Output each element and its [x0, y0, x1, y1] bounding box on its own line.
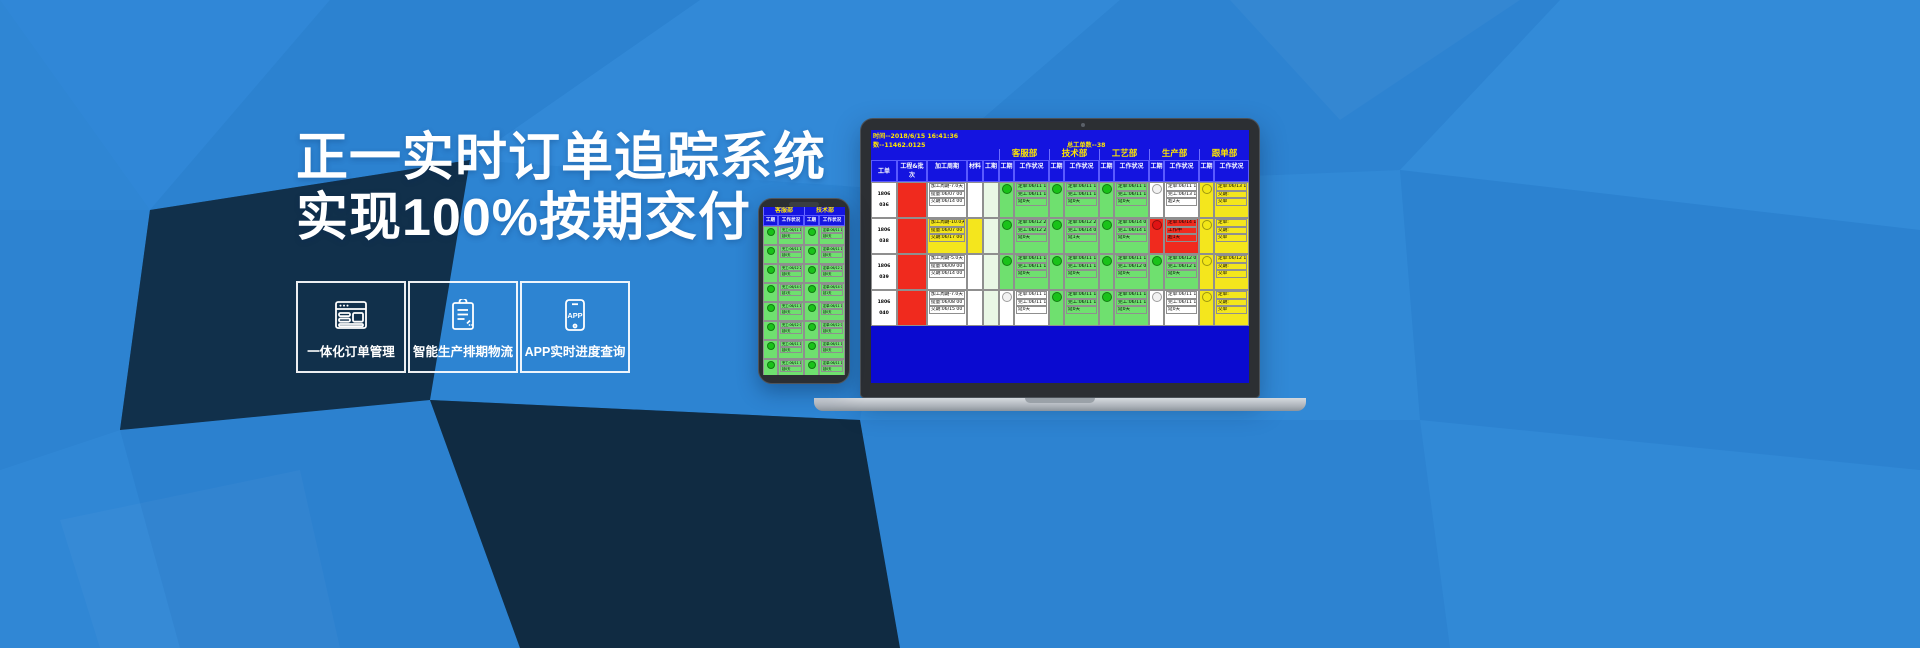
cell-project [897, 254, 927, 290]
cell-dept-duration [1199, 254, 1214, 290]
status-indicator-g [1152, 256, 1162, 266]
column-header-row: 工单 工程&批次 加工周期 材料 工期 工期 工作状况 工期 工作状况 工期 工… [871, 160, 1249, 182]
cell-material [967, 254, 983, 290]
dept-subheader-status: 工作状况 [1014, 160, 1049, 182]
status-indicator-g [767, 266, 775, 274]
cell-dept-duration [763, 321, 778, 340]
cell-dept-status: 定单:06/12 20延0天 [819, 264, 845, 283]
cell-dept-duration [1199, 182, 1214, 218]
cell-cycle: 加工周期-7.0天提量:06/07 00交期:06/14 00 [927, 182, 967, 218]
dept-subheader-duration: 工期 [763, 215, 778, 226]
cell-workorder: 1806038 [871, 218, 897, 254]
department-header: 技术部 [1049, 149, 1099, 160]
cell-dept-status: 定单:06/14 00完工:06/14 14延0天 [1114, 218, 1149, 254]
status-indicator-y [1202, 292, 1212, 302]
phone-notch [789, 202, 819, 207]
cell-dept-status: 完工:06/11 17延0天 [778, 245, 804, 264]
cell-dept-status: 定单:06/11 17完工:06/11 17延0天 [1014, 182, 1049, 218]
status-indicator-g [767, 228, 775, 236]
dept-subheader-status: 工作状况 [778, 215, 804, 226]
cell-dept-status: 完工:06/12 09延0天 [778, 321, 804, 340]
cell-dept-status: 定单:06/11 17完工:06/11 17延0天 [1064, 290, 1099, 326]
webcam-icon [1081, 123, 1085, 127]
department-header-strip: 客服部 技术部 工艺部 生产部 跟单部 [871, 149, 1249, 160]
cell-dept-status: 定单:06/12 20完工:06/14 00延1天 [1064, 218, 1099, 254]
column-header-duration: 工期 [983, 160, 999, 182]
cell-dept-status: 完工:06/14 00延1天 [778, 283, 804, 302]
cell-dept-duration [763, 359, 778, 375]
dashboard-time-row: 时间--2018/6/15 16:41:36 [873, 131, 1247, 140]
feature-label: 智能生产排期物流 [413, 341, 513, 360]
status-indicator-g [808, 266, 816, 274]
cell-cycle: 加工周期-10.0天提量:06/07 00交期:06/17 00 [927, 218, 967, 254]
clipboard-schedule-icon [448, 296, 478, 334]
phone-screen: 客服部 技术部 工期 工作状况 工期 工作状况 完工:06/11 17延0天定单… [763, 207, 845, 375]
laptop-screen: 时间--2018/6/15 16:41:36 数--11462.0125 总工单… [871, 130, 1249, 383]
cell-dept-duration [1149, 218, 1164, 254]
cell-dept-status: 定单:06/11 17完工:06/11 17延0天 [1014, 254, 1049, 290]
cell-dept-status: 定单:06/13 10交期:交单 [1214, 182, 1249, 218]
dept-subheader-status: 工作状况 [1114, 160, 1149, 182]
cell-dept-status: 定单:06/11 17完工:06/11 17延0天 [1114, 182, 1149, 218]
cell-dept-status: 定单:06/12 19交期:交单 [1214, 254, 1249, 290]
cell-dept-duration [804, 245, 819, 264]
status-indicator-g [1102, 292, 1112, 302]
status-indicator-r [1152, 220, 1162, 230]
status-indicator-w [1152, 292, 1162, 302]
status-indicator-g [1052, 292, 1062, 302]
column-header-material: 材料 [967, 160, 983, 182]
cell-dept-status: 定单:交期:交单 [1214, 218, 1249, 254]
dashboard-row-list: 1806036加工周期-7.0天提量:06/07 00交期:06/14 00定单… [871, 182, 1249, 326]
cell-dept-status: 定单:06/11 17完工:06/12 09延0天 [1114, 254, 1149, 290]
status-indicator-g [767, 285, 775, 293]
cell-dept-duration [804, 321, 819, 340]
cell-dept-duration [1199, 218, 1214, 254]
cell-cycle: 加工周期-5.0天提量:06/09 00交期:06/14 00 [927, 254, 967, 290]
cell-dept-status: 定单:06/14 14工作中超1天 [1164, 218, 1199, 254]
cell-workorder: 1806039 [871, 254, 897, 290]
cell-dept-duration [1199, 290, 1214, 326]
status-indicator-g [767, 304, 775, 312]
cell-dept-status: 定单:06/12 09延0天 [819, 321, 845, 340]
dashboard-count-row: 数--11462.0125 总工单数--38 [873, 140, 1247, 149]
mobile-app-icon: APP [562, 296, 588, 334]
laptop-base [814, 398, 1306, 411]
status-indicator-w [1152, 184, 1162, 194]
table-row[interactable]: 完工:06/11 17延0天定单:06/11 17延0天 [763, 226, 845, 245]
dept-subheader-status: 工作状况 [1164, 160, 1199, 182]
status-indicator-g [1102, 184, 1112, 194]
laptop-lid: 时间--2018/6/15 16:41:36 数--11462.0125 总工单… [860, 118, 1260, 398]
cell-dept-duration [999, 254, 1014, 290]
cell-dept-status: 定单:06/11 17完工:06/11 17延0天 [1064, 254, 1099, 290]
status-indicator-g [1052, 184, 1062, 194]
status-indicator-g [808, 247, 816, 255]
table-row[interactable]: 1806036加工周期-7.0天提量:06/07 00交期:06/14 00定单… [871, 182, 1249, 218]
cell-workorder: 1806036 [871, 182, 897, 218]
dept-subheader-duration: 工期 [1199, 160, 1214, 182]
status-indicator-g [1052, 256, 1062, 266]
cell-dept-status: 定单:06/11 17延0天 [819, 245, 845, 264]
table-row[interactable]: 完工:06/11 17延0天定单:06/11 17延0天 [763, 340, 845, 359]
cell-dept-status: 定单:06/11 17完工:06/11 17延0天 [1114, 290, 1149, 326]
order-tracking-dashboard: 时间--2018/6/15 16:41:36 数--11462.0125 总工单… [871, 130, 1249, 326]
cell-dept-status: 完工:06/12 20延0天 [778, 264, 804, 283]
cell-duration [983, 254, 999, 290]
table-row[interactable]: 完工:06/11 17延0天定单:06/11 17延0天 [763, 245, 845, 264]
cell-dept-duration [763, 283, 778, 302]
column-header-cycle: 加工周期 [927, 160, 967, 182]
feature-label: 一体化订单管理 [307, 341, 395, 360]
status-indicator-w [1002, 292, 1012, 302]
table-row[interactable]: 完工:06/11 17延0天定单:06/11 17延0天 [763, 359, 845, 375]
cell-dept-duration [1099, 218, 1114, 254]
cell-dept-status: 定单:06/11 17延0天 [819, 226, 845, 245]
cell-dept-duration [763, 264, 778, 283]
department-header: 生产部 [1149, 149, 1199, 160]
column-header-project: 工程&批次 [897, 160, 927, 182]
status-indicator-g [1102, 256, 1112, 266]
total-orders-label: 总工单数--38 [1067, 140, 1106, 149]
cell-dept-status: 完工:06/11 17延0天 [778, 226, 804, 245]
cell-dept-duration [804, 340, 819, 359]
cell-dept-duration [1049, 254, 1064, 290]
banner-stage: 正一实时订单追踪系统 实现100%按期交付 [0, 0, 1920, 648]
table-row[interactable]: 完工:06/12 20延0天定单:06/12 20延0天 [763, 264, 845, 283]
status-indicator-g [808, 361, 816, 369]
cell-dept-status: 定单:06/12 09完工:06/12 19延0天 [1164, 254, 1199, 290]
cell-workorder: 1806040 [871, 290, 897, 326]
cell-dept-duration [1049, 218, 1064, 254]
phone-mockup: 客服部 技术部 工期 工作状况 工期 工作状况 完工:06/11 17延0天定单… [758, 198, 850, 384]
cell-dept-duration [804, 359, 819, 375]
cell-dept-duration [763, 226, 778, 245]
feature-label: APP实时进度查询 [525, 341, 626, 360]
cell-project [897, 182, 927, 218]
status-indicator-g [1002, 220, 1012, 230]
cell-dept-status: 定单:06/12 20完工:06/12 20延0天 [1014, 218, 1049, 254]
phone-department-header-strip: 客服部 技术部 [763, 207, 845, 215]
cell-cycle: 加工周期-7.0天提量:06/08 00交期:06/15 00 [927, 290, 967, 326]
cell-dept-duration [763, 340, 778, 359]
dashboard-layout-icon [334, 296, 368, 334]
cell-dept-status: 定单:06/11 17完工:06/11 17延0天 [1164, 290, 1199, 326]
status-indicator-g [808, 285, 816, 293]
dept-subheader-duration: 工期 [804, 215, 819, 226]
cell-dept-duration [1099, 290, 1114, 326]
cell-project [897, 218, 927, 254]
status-indicator-g [808, 228, 816, 236]
dept-subheader-duration: 工期 [999, 160, 1014, 182]
cell-dept-duration [804, 264, 819, 283]
cell-dept-duration [999, 218, 1014, 254]
table-row[interactable]: 完工:06/12 09延0天定单:06/12 09延0天 [763, 321, 845, 340]
cell-dept-duration [1049, 182, 1064, 218]
table-row[interactable]: 1806038加工周期-10.0天提量:06/07 00交期:06/17 00定… [871, 218, 1249, 254]
cell-dept-status: 定单:06/14 00延1天 [819, 283, 845, 302]
column-header-workorder: 工单 [871, 160, 897, 182]
cell-dept-duration [1099, 182, 1114, 218]
cell-dept-duration [804, 283, 819, 302]
status-indicator-g [808, 342, 816, 350]
cell-duration [983, 182, 999, 218]
phone-dashboard-row-list: 完工:06/11 17延0天定单:06/11 17延0天完工:06/11 17延… [763, 226, 845, 375]
count-label: 数--11462.0125 [873, 140, 925, 149]
cell-duration [983, 290, 999, 326]
cell-project [897, 290, 927, 326]
status-indicator-y [1202, 184, 1212, 194]
cell-dept-status: 定单:06/11 17完工:06/11 17延0天 [1064, 182, 1099, 218]
cell-dept-duration [1149, 182, 1164, 218]
cell-dept-status: 定单:06/11 17延0天 [819, 302, 845, 321]
dept-subheader-status: 工作状况 [1214, 160, 1249, 182]
department-header: 客服部 [999, 149, 1049, 160]
cell-dept-status: 定单:06/11 17延0天 [819, 359, 845, 375]
status-indicator-g [1102, 220, 1112, 230]
status-indicator-g [1052, 220, 1062, 230]
cell-dept-status: 定单:06/11 17完工:06/13 10超2天 [1164, 182, 1199, 218]
dept-subheader-duration: 工期 [1049, 160, 1064, 182]
cell-dept-status: 完工:06/11 17延0天 [778, 340, 804, 359]
dept-subheader-status: 工作状况 [819, 215, 845, 226]
cell-dept-duration [999, 290, 1014, 326]
status-indicator-g [767, 342, 775, 350]
status-indicator-g [767, 247, 775, 255]
status-indicator-y [1202, 220, 1212, 230]
laptop-notch [1025, 398, 1095, 403]
cell-dept-duration [1149, 254, 1164, 290]
status-indicator-g [808, 304, 816, 312]
cell-material [967, 182, 983, 218]
department-header: 技术部 [804, 207, 845, 215]
cell-dept-status: 完工:06/11 17延0天 [778, 302, 804, 321]
cell-duration [983, 218, 999, 254]
cell-dept-status: 定单:交期:交单 [1214, 290, 1249, 326]
laptop-mockup: 时间--2018/6/15 16:41:36 数--11462.0125 总工单… [860, 118, 1306, 411]
dept-subheader-status: 工作状况 [1064, 160, 1099, 182]
table-row[interactable]: 1806039加工周期-5.0天提量:06/09 00交期:06/14 00定单… [871, 254, 1249, 290]
status-indicator-g [808, 323, 816, 331]
phone-order-tracking-dashboard: 客服部 技术部 工期 工作状况 工期 工作状况 完工:06/11 17延0天定单… [763, 207, 845, 375]
feature-box-order-management[interactable]: 一体化订单管理 [296, 281, 406, 373]
feature-box-production-scheduling[interactable]: 智能生产排期物流 [408, 281, 518, 373]
status-indicator-g [1002, 184, 1012, 194]
cell-dept-status: 完工:06/11 17延0天 [778, 359, 804, 375]
cell-dept-status: 定单:06/11 17延0天 [819, 340, 845, 359]
table-row[interactable]: 1806040加工周期-7.0天提量:06/08 00交期:06/15 00定单… [871, 290, 1249, 326]
app-icon-text: APP [567, 311, 582, 320]
department-header: 工艺部 [1099, 149, 1149, 160]
cell-material [967, 290, 983, 326]
department-header: 跟单部 [1199, 149, 1249, 160]
phone-column-header-row: 工期 工作状况 工期 工作状况 [763, 215, 845, 226]
cell-material [967, 218, 983, 254]
cell-dept-duration [804, 226, 819, 245]
dept-subheader-duration: 工期 [1149, 160, 1164, 182]
status-indicator-g [767, 361, 775, 369]
feature-box-app-progress[interactable]: APP APP实时进度查询 [520, 281, 630, 373]
status-indicator-g [767, 323, 775, 331]
department-header: 客服部 [763, 207, 804, 215]
status-indicator-y [1202, 256, 1212, 266]
cell-dept-status: 定单:06/11 17完工:06/11 17延0天 [1014, 290, 1049, 326]
dept-subheader-duration: 工期 [1099, 160, 1114, 182]
cell-dept-duration [1099, 254, 1114, 290]
cell-dept-duration [1049, 290, 1064, 326]
headline-line-1: 正一实时订单追踪系统 [296, 129, 826, 187]
cell-dept-duration [763, 245, 778, 264]
table-row[interactable]: 完工:06/14 00延1天定单:06/14 00延1天 [763, 283, 845, 302]
timestamp-label: 时间--2018/6/15 16:41:36 [873, 131, 958, 140]
status-indicator-g [1002, 256, 1012, 266]
cell-dept-duration [999, 182, 1014, 218]
dashboard-topbar: 时间--2018/6/15 16:41:36 数--11462.0125 总工单… [871, 130, 1249, 149]
cell-dept-duration [804, 302, 819, 321]
cell-dept-duration [1149, 290, 1164, 326]
cell-dept-duration [763, 302, 778, 321]
table-row[interactable]: 完工:06/11 17延0天定单:06/11 17延0天 [763, 302, 845, 321]
